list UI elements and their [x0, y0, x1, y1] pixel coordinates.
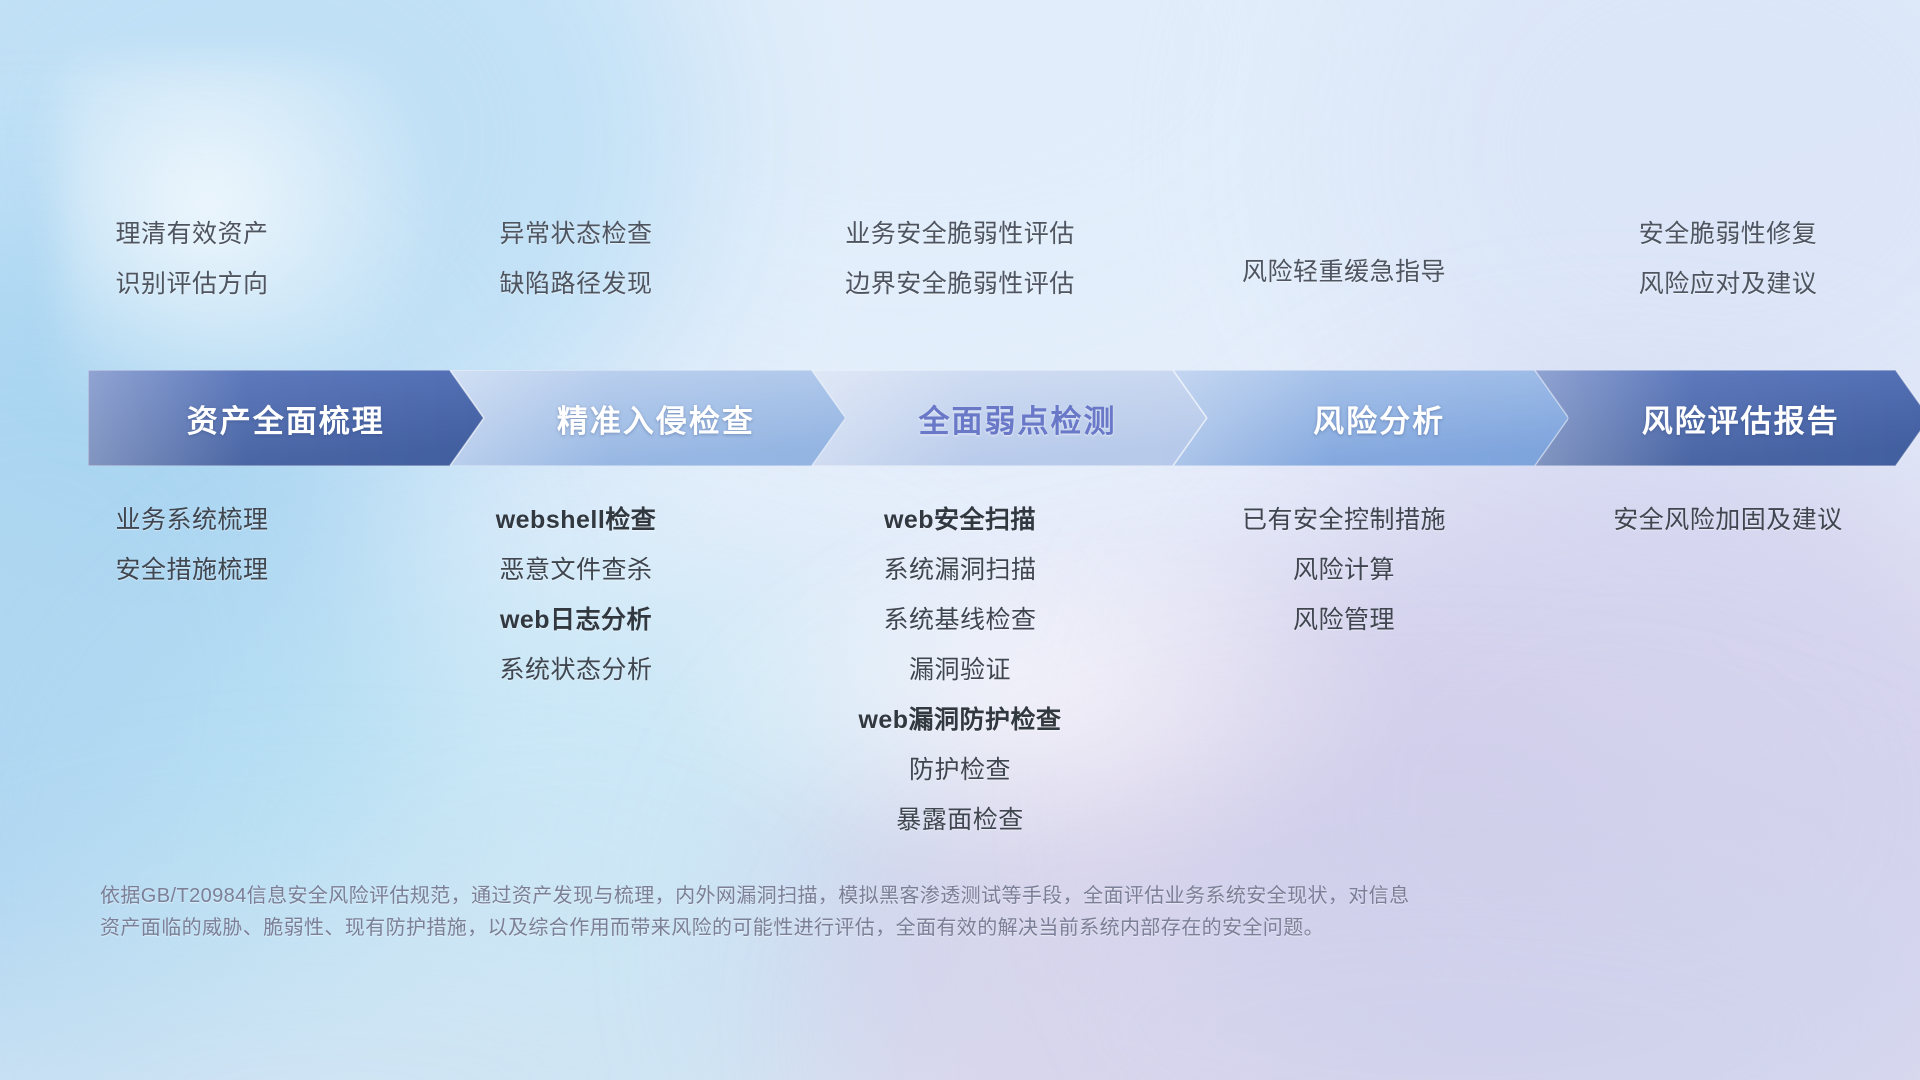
- bottom-details-row: 业务系统梳理安全措施梳理webshell检查恶意文件查杀web日志分析系统状态分…: [0, 508, 1920, 858]
- bottom-detail-item: 业务系统梳理: [115, 508, 268, 533]
- stage-label: 风险分析: [1313, 396, 1445, 441]
- bottom-detail-item: 系统漏洞扫描: [883, 558, 1036, 583]
- top-annotations-row: 理清有效资产识别评估方向异常状态检查缺陷路径发现业务安全脆弱性评估边界安全脆弱性…: [0, 222, 1920, 322]
- top-annotation-column: 风险轻重缓急指导: [1152, 222, 1536, 322]
- bottom-detail-item: 漏洞验证: [909, 658, 1011, 683]
- footer-line-2: 资产面临的威胁、脆弱性、现有防护措施，以及综合作用而带来风险的可能性进行评估，全…: [100, 912, 1620, 944]
- bottom-detail-item: 系统基线检查: [883, 608, 1036, 633]
- stage-chevron-4[interactable]: 风险分析: [1173, 370, 1569, 466]
- top-annotation-column: 安全脆弱性修复风险应对及建议: [1536, 222, 1920, 322]
- bottom-detail-column: webshell检查恶意文件查杀web日志分析系统状态分析: [384, 508, 768, 858]
- process-flow-diagram: 理清有效资产识别评估方向异常状态检查缺陷路径发现业务安全脆弱性评估边界安全脆弱性…: [0, 0, 1920, 1080]
- bottom-detail-column: 已有安全控制措施风险计算风险管理: [1152, 508, 1536, 858]
- bottom-detail-item: web安全扫描: [884, 508, 1036, 533]
- bottom-detail-column: web安全扫描系统漏洞扫描系统基线检查漏洞验证web漏洞防护检查防护检查暴露面检…: [768, 508, 1152, 858]
- top-annotation-item: 理清有效资产: [115, 222, 268, 247]
- footer-line-1: 依据GB/T20984信息安全风险评估规范，通过资产发现与梳理，内外网漏洞扫描，…: [100, 880, 1620, 912]
- stage-label: 资产全面梳理: [187, 396, 385, 441]
- bottom-detail-item: web日志分析: [500, 608, 652, 633]
- bottom-detail-item: 暴露面检查: [896, 808, 1024, 833]
- stage-chevron-5[interactable]: 风险评估报告: [1534, 370, 1920, 466]
- bottom-detail-item: 系统状态分析: [499, 658, 652, 683]
- stage-chevron-2[interactable]: 精准入侵检查: [450, 370, 846, 466]
- bottom-detail-item: 安全风险加固及建议: [1613, 508, 1843, 533]
- bottom-detail-item: 防护检查: [909, 758, 1011, 783]
- top-annotation-item: 风险应对及建议: [1639, 272, 1818, 297]
- top-annotation-column: 业务安全脆弱性评估边界安全脆弱性评估: [768, 222, 1152, 322]
- top-annotation-item: 边界安全脆弱性评估: [845, 272, 1075, 297]
- bottom-detail-column: 业务系统梳理安全措施梳理: [0, 508, 384, 858]
- stage-label: 全面弱点检测: [918, 396, 1116, 441]
- top-annotation-item: 安全脆弱性修复: [1639, 222, 1818, 247]
- bottom-detail-item: 恶意文件查杀: [499, 558, 652, 583]
- bottom-detail-item: 风险计算: [1293, 558, 1395, 583]
- bottom-detail-column: 安全风险加固及建议: [1536, 508, 1920, 858]
- bottom-detail-item: 风险管理: [1293, 608, 1395, 633]
- bottom-detail-item: 安全措施梳理: [115, 558, 268, 583]
- stage-label: 精准入侵检查: [557, 396, 755, 441]
- top-annotation-item: 风险轻重缓急指导: [1242, 260, 1446, 285]
- bottom-detail-item: webshell检查: [496, 508, 657, 533]
- stage-chevron-1[interactable]: 资产全面梳理: [88, 370, 484, 466]
- bottom-detail-item: 已有安全控制措施: [1242, 508, 1446, 533]
- top-annotation-item: 异常状态检查: [499, 222, 652, 247]
- top-annotation-item: 业务安全脆弱性评估: [845, 222, 1075, 247]
- top-annotation-column: 理清有效资产识别评估方向: [0, 222, 384, 322]
- footer-description: 依据GB/T20984信息安全风险评估规范，通过资产发现与梳理，内外网漏洞扫描，…: [100, 880, 1620, 945]
- stage-label: 风险评估报告: [1642, 396, 1840, 441]
- stage-chevron-3[interactable]: 全面弱点检测: [811, 370, 1207, 466]
- top-annotation-item: 缺陷路径发现: [499, 272, 652, 297]
- bottom-detail-item: web漏洞防护检查: [858, 708, 1061, 733]
- stage-chevron-band: 资产全面梳理精准入侵检查全面弱点检测风险分析风险评估报告: [88, 370, 1896, 466]
- top-annotation-item: 识别评估方向: [115, 272, 268, 297]
- top-annotation-column: 异常状态检查缺陷路径发现: [384, 222, 768, 322]
